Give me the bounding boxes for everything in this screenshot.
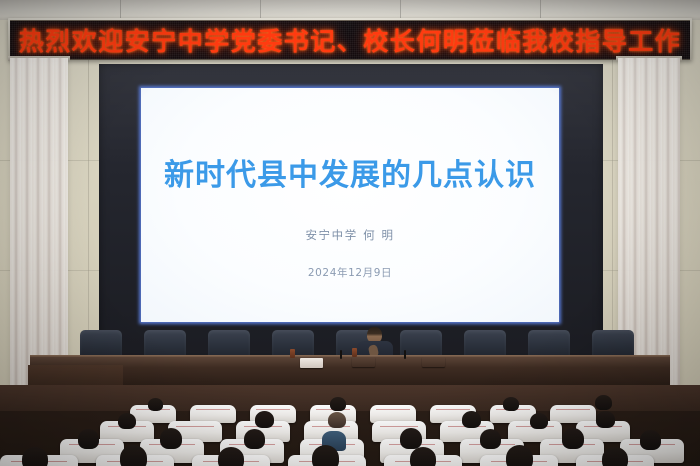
- audience-member: [530, 413, 548, 429]
- audience-member: [244, 429, 265, 449]
- audience-member: [596, 411, 615, 428]
- audience-member: [148, 398, 163, 411]
- nameplate: [422, 357, 445, 367]
- cup: [352, 348, 357, 357]
- projection-screen: 新时代县中发展的几点认识 安宁中学 何 明 2024年12月9日: [141, 88, 559, 322]
- audience-member: [118, 413, 136, 429]
- audience-member: [328, 412, 346, 428]
- chair: [400, 330, 442, 358]
- audience-member: [160, 428, 182, 449]
- microphone: [340, 350, 342, 359]
- chair: [464, 330, 506, 358]
- chair: [528, 330, 570, 358]
- audience-member: [480, 429, 501, 449]
- nameplate: [352, 357, 375, 367]
- led-banner-text: 热烈欢迎安宁中学党委书记、校长何明莅临我校指导工作: [19, 22, 682, 58]
- nameplate: [300, 358, 323, 368]
- audience-member: [400, 428, 422, 449]
- auditorium-scene: 新时代县中发展的几点认识 安宁中学 何 明 2024年12月9日 热烈欢迎安宁中…: [0, 0, 700, 466]
- audience-member: [462, 411, 481, 428]
- head-table: [30, 357, 670, 387]
- audience-member: [22, 447, 48, 466]
- audience-member: [312, 445, 339, 466]
- chair: [144, 330, 186, 358]
- audience-member: [506, 445, 533, 466]
- chair: [592, 330, 634, 358]
- slide-subtitle: 安宁中学 何 明: [305, 227, 394, 243]
- slide-title: 新时代县中发展的几点认识: [164, 150, 536, 194]
- chair: [80, 330, 122, 358]
- slide-date: 2024年12月9日: [308, 265, 392, 280]
- audience-member: [602, 447, 628, 466]
- audience-member: [562, 428, 584, 449]
- audience-member: [218, 447, 244, 466]
- chair: [208, 330, 250, 358]
- audience-member: [255, 411, 274, 428]
- audience-member: [330, 397, 346, 411]
- audience-area: [0, 385, 700, 466]
- microphone: [404, 350, 406, 359]
- audience-member: [503, 397, 519, 411]
- led-banner: 热烈欢迎安宁中学党委书记、校长何明莅临我校指导工作: [10, 20, 690, 60]
- audience-member: [120, 445, 147, 466]
- cup: [290, 349, 295, 358]
- audience-member: [410, 447, 436, 466]
- audience-member: [640, 430, 661, 450]
- audience-member: [78, 429, 99, 449]
- audience-member: [595, 395, 612, 410]
